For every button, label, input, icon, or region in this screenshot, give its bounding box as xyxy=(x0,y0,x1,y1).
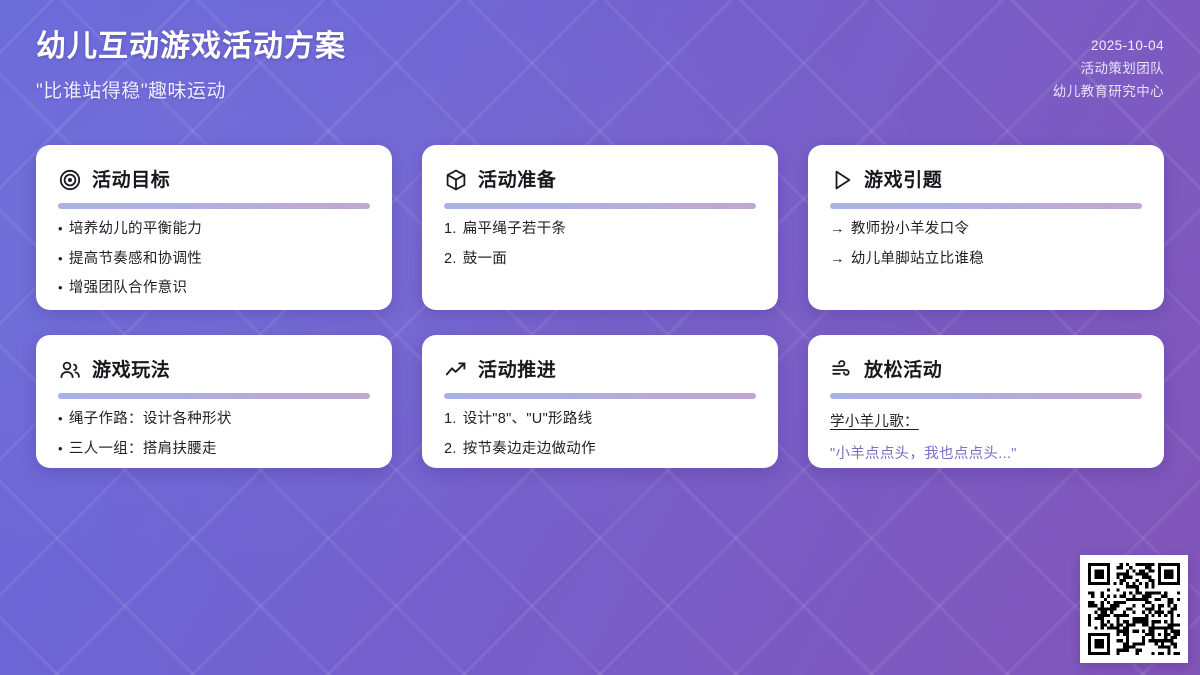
list-item-text: 按节奏边走边做动作 xyxy=(463,440,756,460)
list-item-text: 鼓一面 xyxy=(463,250,756,270)
card-header: 活动准备 xyxy=(444,165,756,195)
meta-date: 2025-10-04 xyxy=(1053,34,1164,57)
card-body: • 绳子作路：设计各种形状 • 三人一组：搭肩扶腰走 xyxy=(58,410,370,459)
list-item-text: 扁平绳子若干条 xyxy=(463,220,756,240)
list-item: • 提高节奏感和协调性 xyxy=(58,250,370,270)
list-item-text: 增强团队合作意识 xyxy=(69,279,370,299)
list-item: • 增强团队合作意识 xyxy=(58,279,370,299)
card-divider xyxy=(830,393,1142,399)
slide-header: 幼儿互动游戏活动方案 "比谁站得稳"趣味运动 2025-10-04 活动策划团队… xyxy=(0,0,1200,130)
header-meta-group: 2025-10-04 活动策划团队 幼儿教育研究中心 xyxy=(1053,26,1164,104)
card-header: 游戏玩法 xyxy=(58,355,370,385)
list-item: 1. 设计"8"、"U"形路线 xyxy=(444,410,756,430)
meta-organization: 幼儿教育研究中心 xyxy=(1053,80,1164,103)
card-divider xyxy=(830,203,1142,209)
card-header: 游戏引题 xyxy=(830,165,1142,195)
page-title: 幼儿互动游戏活动方案 xyxy=(36,30,346,65)
list-item: → 幼儿单脚站立比谁稳 xyxy=(830,250,1142,270)
list-item-text: 三人一组：搭肩扶腰走 xyxy=(69,440,370,460)
list-item-text: 教师扮小羊发口令 xyxy=(851,220,1142,240)
meta-team: 活动策划团队 xyxy=(1053,57,1164,80)
card-game-rules: 游戏玩法 • 绳子作路：设计各种形状 • 三人一组：搭肩扶腰走 xyxy=(36,335,392,468)
list-item-text: 设计"8"、"U"形路线 xyxy=(463,410,756,430)
qr-code-image xyxy=(1088,563,1180,655)
song-quote: "小羊点点头，我也点点头..." xyxy=(830,442,1142,463)
trending-up-icon xyxy=(444,358,468,382)
page-subtitle: "比谁站得稳"趣味运动 xyxy=(36,76,346,103)
list-item: 2. 按节奏边走边做动作 xyxy=(444,440,756,460)
wind-icon xyxy=(830,358,854,382)
card-title: 活动目标 xyxy=(92,171,170,190)
card-grid: 活动目标 • 培养幼儿的平衡能力 • 提高节奏感和协调性 • 增强团队合作意识 xyxy=(36,145,1164,468)
list-marker: 2. xyxy=(444,440,457,460)
card-activity-progression: 活动推进 1. 设计"8"、"U"形路线 2. 按节奏边走边做动作 xyxy=(422,335,778,468)
list-marker: → xyxy=(830,220,845,240)
card-body: 学小羊儿歌： "小羊点点头，我也点点头..." xyxy=(830,410,1142,463)
card-title: 游戏玩法 xyxy=(92,361,170,380)
list-item: 1. 扁平绳子若干条 xyxy=(444,220,756,240)
card-header: 活动目标 xyxy=(58,165,370,195)
qr-code[interactable] xyxy=(1080,555,1188,663)
list-item-text: 培养幼儿的平衡能力 xyxy=(69,220,370,240)
list-item-text: 幼儿单脚站立比谁稳 xyxy=(851,250,1142,270)
users-icon xyxy=(58,358,82,382)
card-title: 游戏引题 xyxy=(864,171,942,190)
card-header: 活动推进 xyxy=(444,355,756,385)
list-item: 2. 鼓一面 xyxy=(444,250,756,270)
list-marker: • xyxy=(58,440,63,458)
card-activity-preparation: 活动准备 1. 扁平绳子若干条 2. 鼓一面 xyxy=(422,145,778,310)
list-marker: • xyxy=(58,250,63,268)
card-divider xyxy=(58,393,370,399)
card-body: • 培养幼儿的平衡能力 • 提高节奏感和协调性 • 增强团队合作意识 xyxy=(58,220,370,299)
song-label: 学小羊儿歌： xyxy=(830,410,1142,431)
card-title: 活动推进 xyxy=(478,361,556,380)
card-relaxation-activity: 放松活动 学小羊儿歌： "小羊点点头，我也点点头..." xyxy=(808,335,1164,468)
list-marker: 2. xyxy=(444,250,457,270)
list-item-text: 绳子作路：设计各种形状 xyxy=(69,410,370,430)
card-game-introduction: 游戏引题 → 教师扮小羊发口令 → 幼儿单脚站立比谁稳 xyxy=(808,145,1164,310)
list-item: • 绳子作路：设计各种形状 xyxy=(58,410,370,430)
card-body: 1. 设计"8"、"U"形路线 2. 按节奏边走边做动作 xyxy=(444,410,756,459)
box-icon xyxy=(444,168,468,192)
card-body: 1. 扁平绳子若干条 2. 鼓一面 xyxy=(444,220,756,269)
list-marker: → xyxy=(830,250,845,270)
list-marker: 1. xyxy=(444,220,457,240)
list-item: • 三人一组：搭肩扶腰走 xyxy=(58,440,370,460)
play-icon xyxy=(830,168,854,192)
list-item: → 教师扮小羊发口令 xyxy=(830,220,1142,240)
list-marker: • xyxy=(58,279,63,297)
list-marker: 1. xyxy=(444,410,457,430)
list-marker: • xyxy=(58,410,63,428)
header-title-group: 幼儿互动游戏活动方案 "比谁站得稳"趣味运动 xyxy=(36,26,346,103)
target-icon xyxy=(58,168,82,192)
list-item-text: 提高节奏感和协调性 xyxy=(69,250,370,270)
card-divider xyxy=(444,393,756,399)
card-body: → 教师扮小羊发口令 → 幼儿单脚站立比谁稳 xyxy=(830,220,1142,269)
slide-canvas: 幼儿互动游戏活动方案 "比谁站得稳"趣味运动 2025-10-04 活动策划团队… xyxy=(0,0,1200,675)
card-header: 放松活动 xyxy=(830,355,1142,385)
card-title: 活动准备 xyxy=(478,171,556,190)
card-activity-goals: 活动目标 • 培养幼儿的平衡能力 • 提高节奏感和协调性 • 增强团队合作意识 xyxy=(36,145,392,310)
list-item: • 培养幼儿的平衡能力 xyxy=(58,220,370,240)
card-divider xyxy=(58,203,370,209)
card-divider xyxy=(444,203,756,209)
list-marker: • xyxy=(58,220,63,238)
card-title: 放松活动 xyxy=(864,361,942,380)
